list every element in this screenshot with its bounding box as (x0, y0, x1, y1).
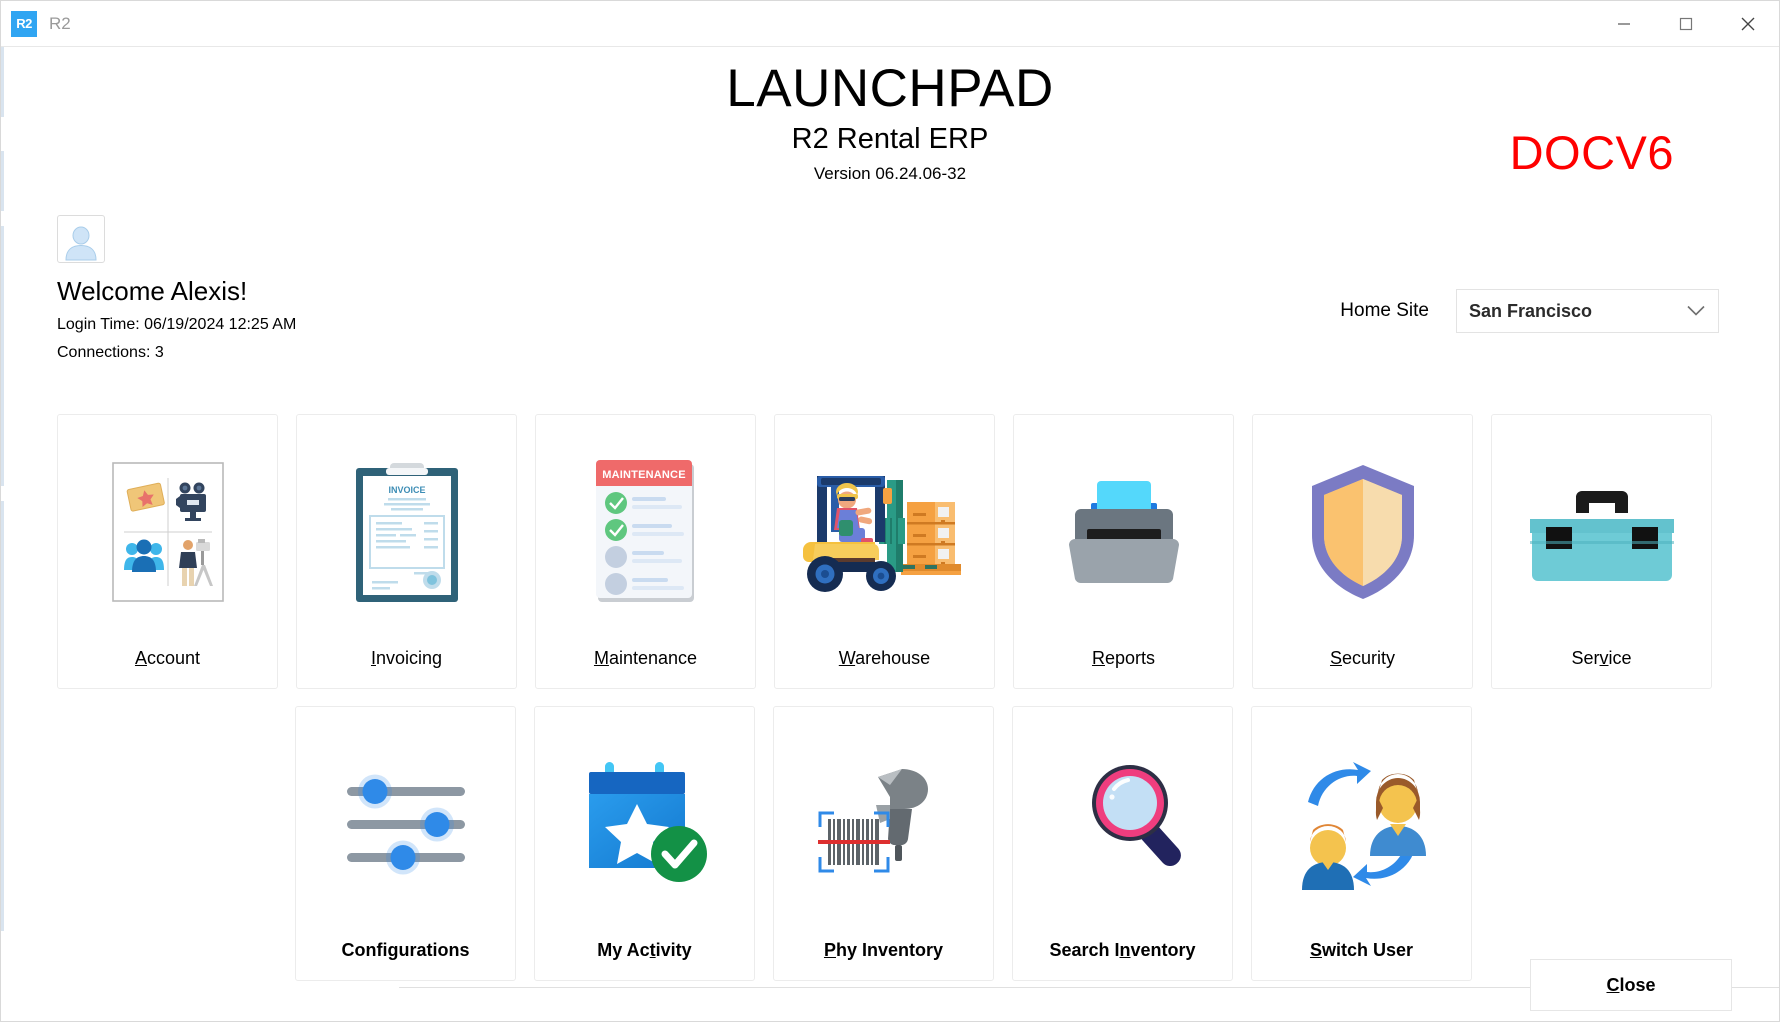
tile-warehouse[interactable]: Warehouse (774, 414, 995, 689)
tile-label-my-activity: My Activity (597, 940, 691, 961)
tile-search-inventory[interactable]: Search Inventory (1012, 706, 1233, 981)
calendar-check-icon (535, 707, 754, 940)
tile-label-switch-user: Switch User (1310, 940, 1413, 961)
tile-my-activity[interactable]: My Activity (534, 706, 755, 981)
user-avatar-icon (61, 222, 101, 262)
chevron-down-icon (1687, 301, 1705, 322)
tile-label-phy-inventory: Phy Inventory (824, 940, 943, 961)
login-time: Login Time: 06/19/2024 12:25 AM (57, 316, 296, 334)
account-grid-icon (58, 415, 277, 648)
window-title: R2 (49, 14, 71, 34)
tile-reports[interactable]: Reports (1013, 414, 1234, 689)
tile-label-invoicing: Invoicing (371, 648, 442, 669)
tile-row-2: Configurations (295, 706, 1729, 981)
page-title: LAUNCHPAD (1, 61, 1779, 117)
avatar[interactable] (57, 215, 105, 263)
tile-row-1: Account INVOICE (57, 414, 1729, 689)
close-button[interactable]: Close (1530, 959, 1732, 1011)
svg-text:INVOICE: INVOICE (388, 485, 425, 495)
close-button-label: Close (1606, 975, 1655, 996)
printer-icon (1014, 415, 1233, 648)
sliders-icon (296, 707, 515, 940)
title-bar: R2 R2 (1, 1, 1779, 47)
home-site-label: Home Site (1340, 300, 1429, 322)
tile-label-reports: Reports (1092, 648, 1155, 669)
home-site-select[interactable]: San Francisco (1456, 289, 1719, 333)
connections-count: Connections: 3 (57, 344, 296, 362)
tile-maintenance[interactable]: MAINTENANCE (535, 414, 756, 689)
minimize-button[interactable] (1593, 1, 1655, 47)
tile-label-maintenance: Maintenance (594, 648, 697, 669)
tile-grid: Account INVOICE (57, 414, 1729, 981)
tile-label-warehouse: Warehouse (839, 648, 930, 669)
tile-label-account: Account (135, 648, 200, 669)
tile-service[interactable]: Service (1491, 414, 1712, 689)
tile-label-search-inventory: Search Inventory (1049, 940, 1195, 961)
welcome-message: Welcome Alexis! (57, 276, 296, 307)
shield-icon (1253, 415, 1472, 648)
invoice-clipboard-icon: INVOICE (297, 415, 516, 648)
tile-label-service: Service (1571, 648, 1631, 669)
tile-invoicing[interactable]: INVOICE (296, 414, 517, 689)
maximize-button[interactable] (1655, 1, 1717, 47)
toolbox-icon (1492, 415, 1711, 648)
app-logo: R2 (11, 11, 37, 37)
tile-phy-inventory[interactable]: Phy Inventory (773, 706, 994, 981)
close-window-button[interactable] (1717, 1, 1779, 47)
home-site-row: Home Site San Francisco (1340, 289, 1719, 333)
launchpad-content: LAUNCHPAD R2 Rental ERP Version 06.24.06… (1, 47, 1779, 1021)
doc-badge: DOCV6 (1510, 125, 1674, 180)
svg-text:MAINTENANCE: MAINTENANCE (602, 469, 685, 481)
tile-configurations[interactable]: Configurations (295, 706, 516, 981)
tile-label-security: Security (1330, 648, 1395, 669)
user-info-block: Welcome Alexis! Login Time: 06/19/2024 1… (57, 215, 296, 362)
window-controls (1593, 1, 1779, 47)
maintenance-checklist-icon: MAINTENANCE (536, 415, 755, 648)
app-window: R2 R2 LAUNCHPAD R2 Rental ERP Version 06… (0, 0, 1780, 1022)
barcode-scanner-icon (774, 707, 993, 940)
tile-security[interactable]: Security (1252, 414, 1473, 689)
switch-user-icon (1252, 707, 1471, 940)
forklift-icon (775, 415, 994, 648)
tile-account[interactable]: Account (57, 414, 278, 689)
tile-switch-user[interactable]: Switch User (1251, 706, 1472, 981)
magnifier-icon (1013, 707, 1232, 940)
tile-label-configurations: Configurations (342, 940, 470, 961)
home-site-value: San Francisco (1469, 301, 1592, 322)
